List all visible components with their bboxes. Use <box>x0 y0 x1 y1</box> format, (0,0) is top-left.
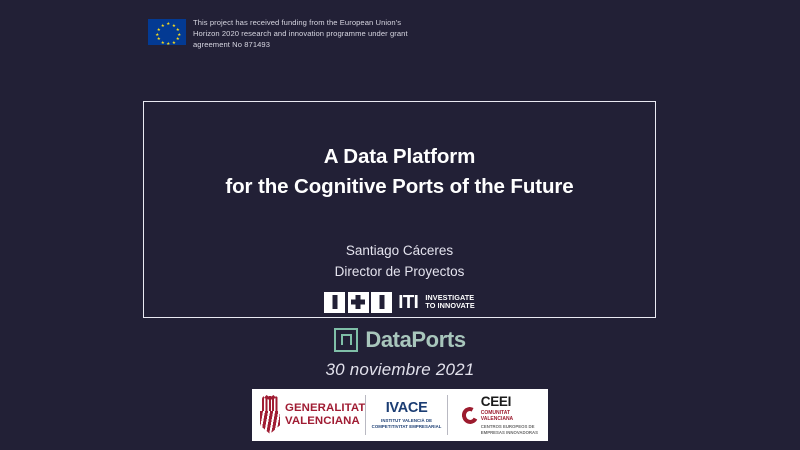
eu-funding-banner: ★ ★ ★ ★ ★ ★ ★ ★ ★ ★ ★ ★ This project has… <box>148 18 408 50</box>
dataports-mark-icon <box>334 328 358 352</box>
presentation-title-slide: ★ ★ ★ ★ ★ ★ ★ ★ ★ ★ ★ ★ This project has… <box>0 0 800 450</box>
ceei-wordmark: CEEI <box>481 395 538 409</box>
page-title: A Data Platform for the Cognitive Ports … <box>225 142 573 201</box>
sponsor-logo-bar: GENERALITAT VALENCIANA IVACE INSTITUT VA… <box>252 389 548 441</box>
sponsor-logo-ivace: IVACE INSTITUT VALENCIÀ DE COMPETITIVITA… <box>366 400 446 430</box>
iti-wordmark: ITI <box>398 291 418 313</box>
ivace-wordmark: IVACE <box>386 400 428 416</box>
iti-logo: ITI INVESTIGATE TO INNOVATE <box>324 291 475 313</box>
iti-square-i-left <box>324 292 345 313</box>
title-box: A Data Platform for the Cognitive Ports … <box>143 101 656 318</box>
ceei-c-mark-icon <box>460 404 480 425</box>
ivace-subtitle: INSTITUT VALENCIÀ DE COMPETITIVITAT EMPR… <box>372 418 442 430</box>
sponsor-logo-ceei: CEEI COMUNITAT VALENCIANA CENTROS EUROPE… <box>448 395 548 436</box>
presentation-date: 30 noviembre 2021 <box>0 360 800 380</box>
iti-mark-icon <box>324 292 392 313</box>
dataports-wordmark: DataPorts <box>365 327 465 353</box>
ceei-subtitle-region: COMUNITAT VALENCIANA <box>481 410 538 423</box>
european-union-flag-icon: ★ ★ ★ ★ ★ ★ ★ ★ ★ ★ ★ ★ <box>148 19 186 45</box>
presenter-block: Santiago Cáceres Director de Proyectos <box>335 241 465 282</box>
presenter-role: Director de Proyectos <box>335 262 465 283</box>
generalitat-shield-icon <box>260 396 280 434</box>
ceei-subtitle-full: CENTROS EUROPEOS DE EMPRESAS INNOVADORAS <box>481 424 538 435</box>
ceei-text-block: CEEI COMUNITAT VALENCIANA CENTROS EUROPE… <box>481 395 538 436</box>
iti-square-plus <box>348 292 369 313</box>
presenter-name: Santiago Cáceres <box>335 241 465 262</box>
eu-funding-text: This project has received funding from t… <box>193 18 408 50</box>
iti-tagline: INVESTIGATE TO INNOVATE <box>425 294 474 311</box>
iti-square-i-right <box>371 292 392 313</box>
dataports-logo: DataPorts <box>0 327 800 353</box>
sponsor-logo-generalitat-valenciana: GENERALITAT VALENCIANA <box>252 396 365 434</box>
generalitat-wordmark: GENERALITAT VALENCIANA <box>285 402 365 429</box>
